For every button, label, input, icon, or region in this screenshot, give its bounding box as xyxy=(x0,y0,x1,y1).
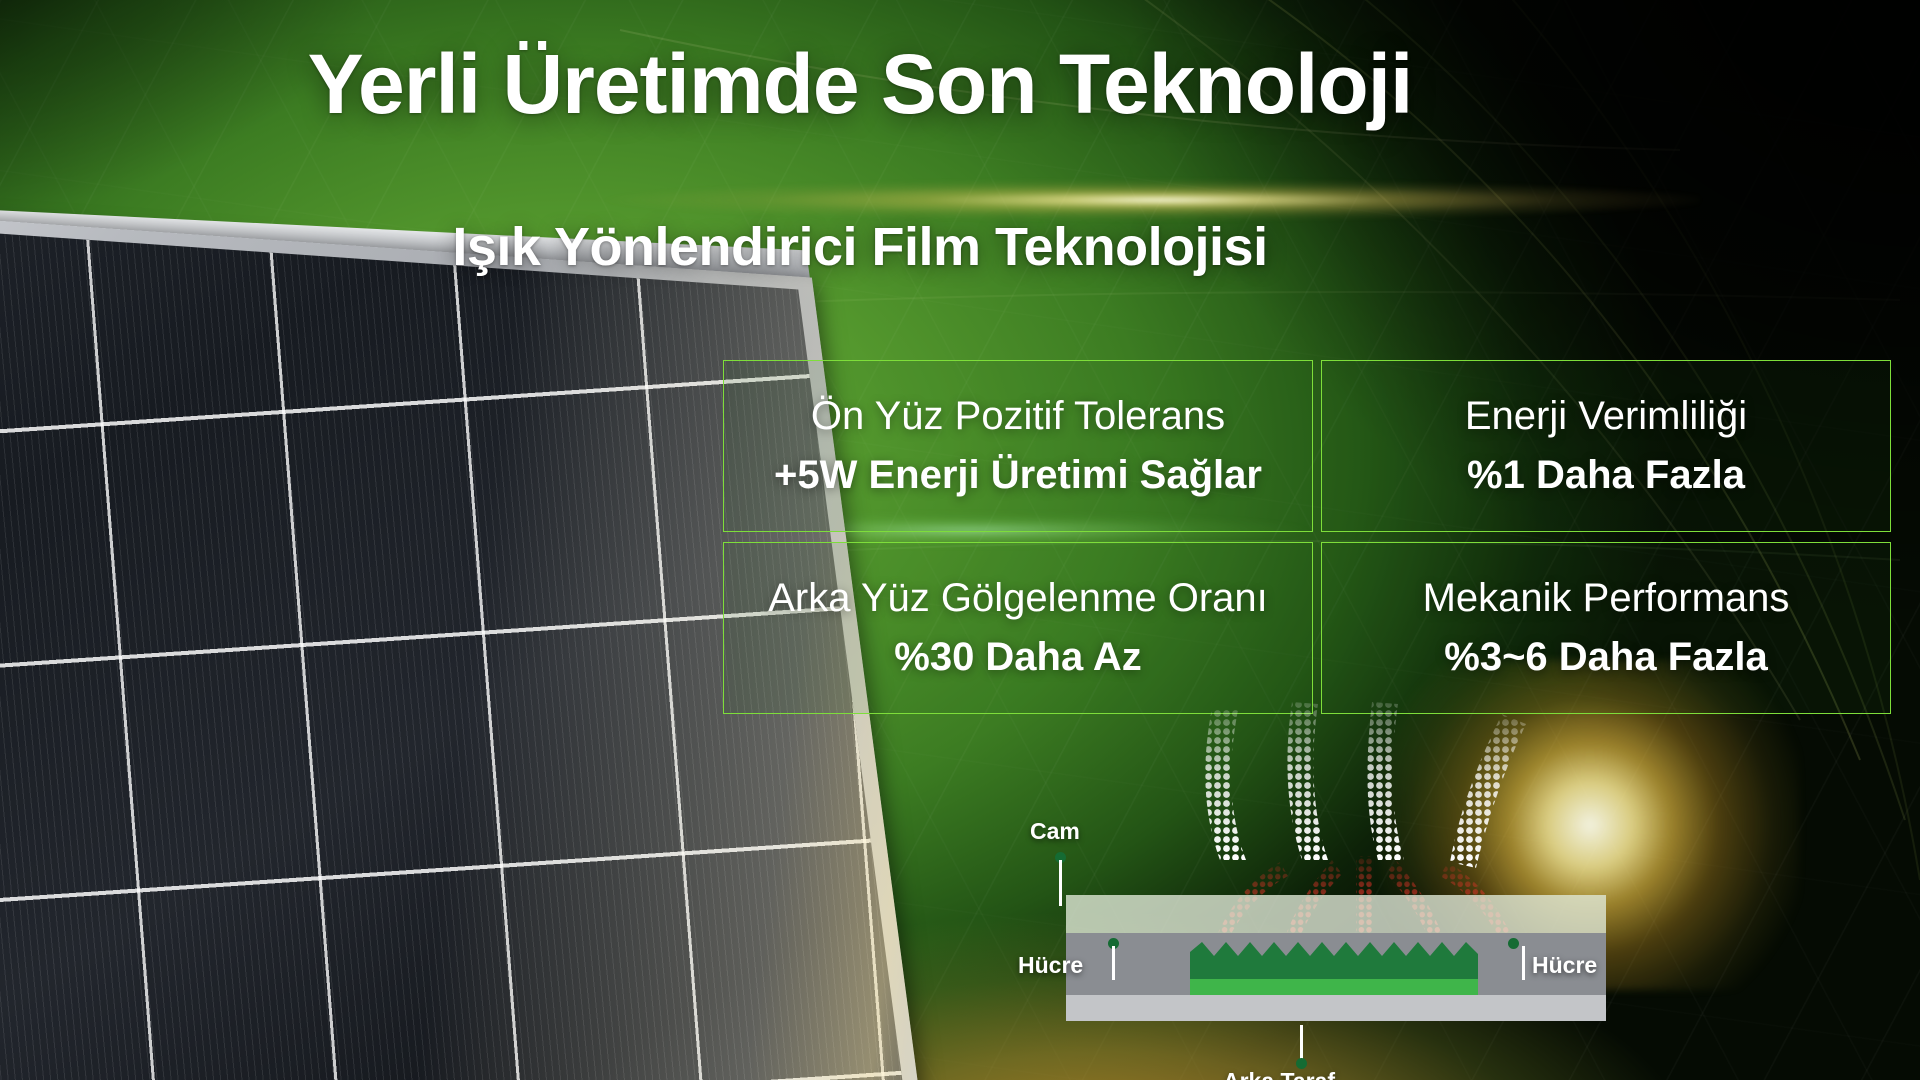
film-sawtooth-profile xyxy=(1190,942,1478,964)
feature-box-grid: Ön Yüz Pozitif Tolerans +5W Enerji Üreti… xyxy=(723,360,1891,714)
label-dot-hucre-right xyxy=(1508,938,1519,949)
feature-title: Ön Yüz Pozitif Tolerans xyxy=(811,394,1225,439)
layer-glass xyxy=(1066,895,1606,933)
page-title: Yerli Üretimde Son Teknoloji xyxy=(0,42,1720,126)
page-subtitle: Işık Yönlendirici Film Teknolojisi xyxy=(0,220,1720,274)
feature-box-front-tolerance[interactable]: Ön Yüz Pozitif Tolerans +5W Enerji Üreti… xyxy=(723,360,1313,532)
leader-line-arka xyxy=(1300,1025,1303,1061)
feature-value: %1 Daha Fazla xyxy=(1467,453,1745,498)
feature-value: %3~6 Daha Fazla xyxy=(1444,635,1768,680)
poster-canvas: Yerli Üretimde Son Teknoloji Işık Yönlen… xyxy=(0,0,1920,1080)
feature-title: Enerji Verimliliği xyxy=(1465,394,1747,439)
leader-line-cam xyxy=(1059,860,1062,906)
feature-value: %30 Daha Az xyxy=(894,635,1142,680)
sawtooth-icon xyxy=(1190,942,1478,966)
feature-box-mechanical-performance[interactable]: Mekanik Performans %3~6 Daha Fazla xyxy=(1321,542,1891,714)
label-hucre-right: Hücre xyxy=(1532,952,1597,979)
feature-box-rear-shading[interactable]: Arka Yüz Gölgelenme Oranı %30 Daha Az xyxy=(723,542,1313,714)
label-hucre-left: Hücre xyxy=(1018,952,1083,979)
label-cam: Cam xyxy=(1030,818,1080,845)
film-cross-section-diagram: Cam Hücre Hücre Arka Taraf xyxy=(1030,700,1650,1080)
feature-title: Arka Yüz Gölgelenme Oranı xyxy=(768,576,1268,621)
label-arka-taraf: Arka Taraf xyxy=(1223,1068,1335,1080)
feature-title: Mekanik Performans xyxy=(1423,576,1790,621)
layer-back-sheet xyxy=(1066,995,1606,1021)
layer-film-base xyxy=(1190,979,1478,995)
leader-line-hucre-right xyxy=(1522,946,1525,980)
leader-line-hucre-left xyxy=(1112,946,1115,980)
feature-value: +5W Enerji Üretimi Sağlar xyxy=(774,453,1262,498)
feature-box-energy-efficiency[interactable]: Enerji Verimliliği %1 Daha Fazla xyxy=(1321,360,1891,532)
